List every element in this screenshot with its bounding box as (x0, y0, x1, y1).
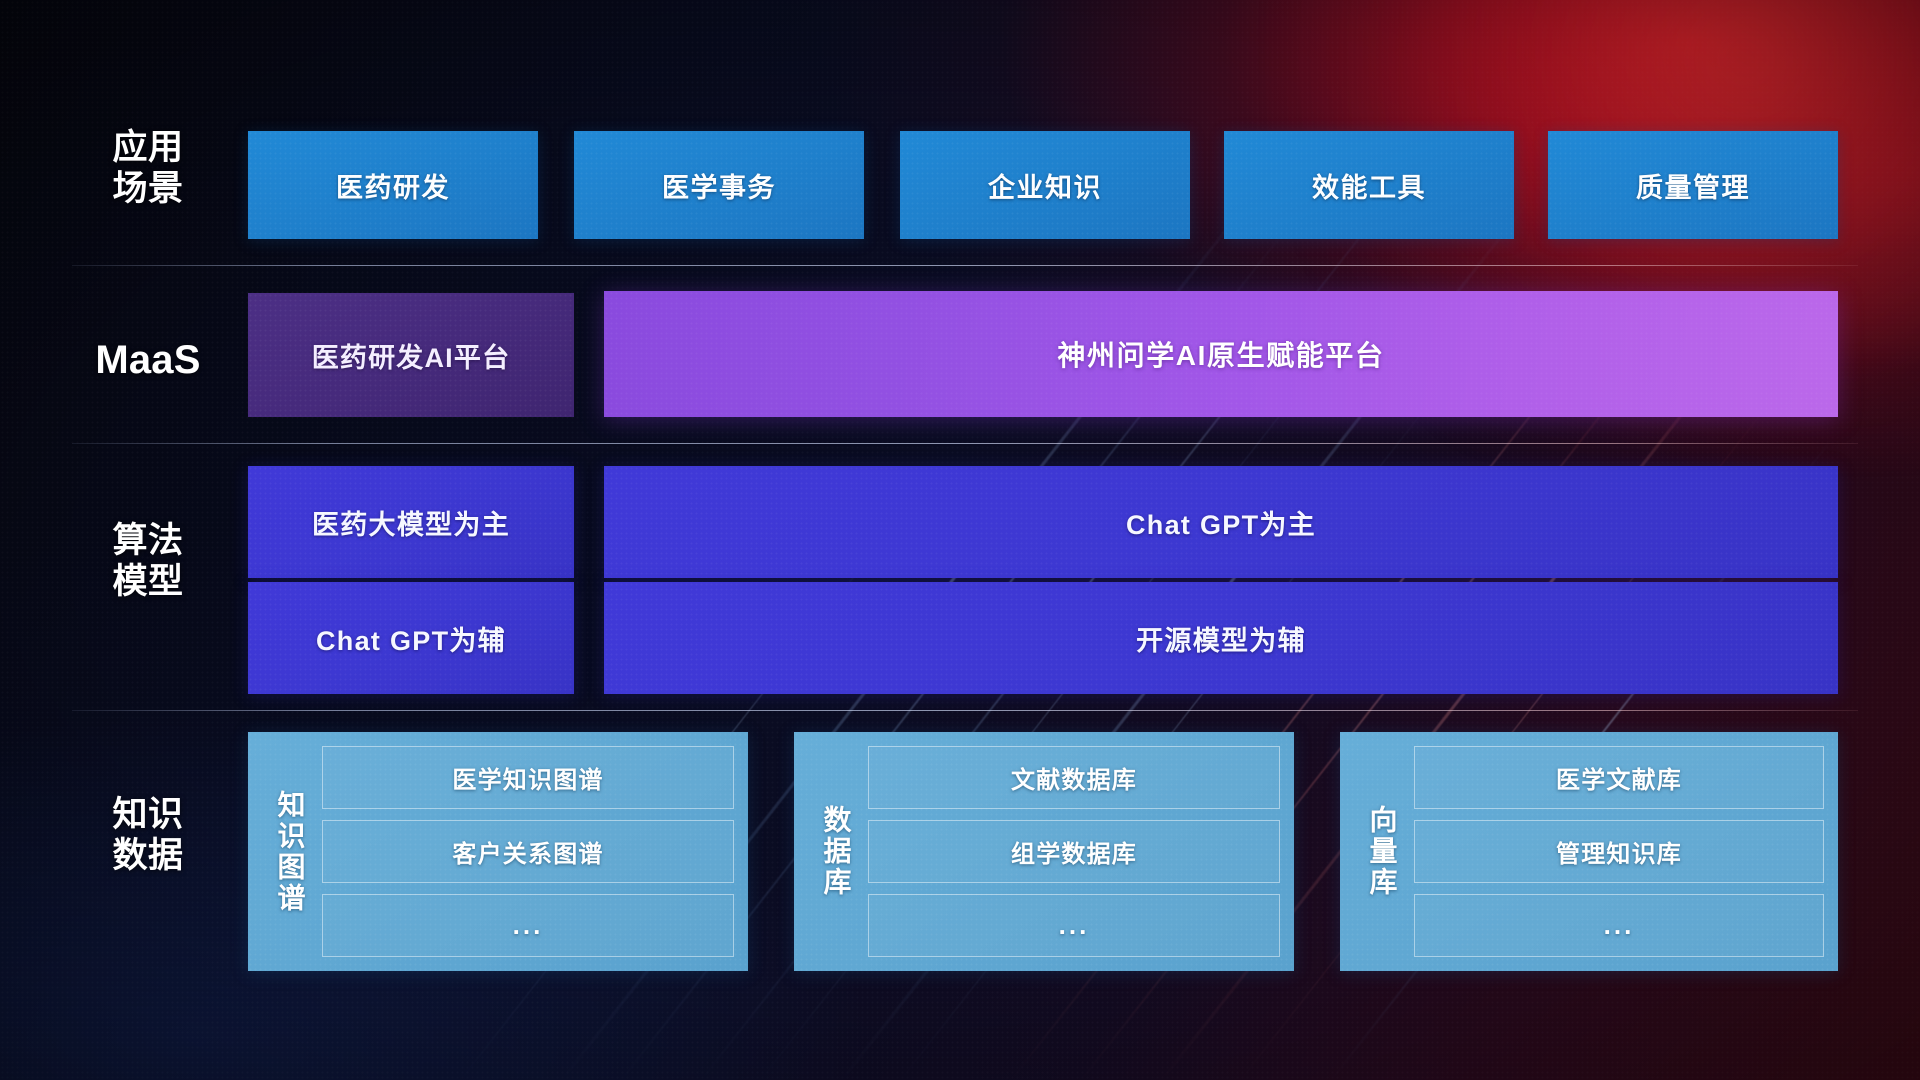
knowledge-chip-label: 医学知识图谱 (452, 760, 603, 795)
vertical-label-text: 数据库 (819, 805, 852, 898)
vertical-label-text: 知识图谱 (273, 790, 306, 914)
algo-box-chatgpt-primary[interactable]: Chat GPT为主 (604, 466, 1838, 578)
tier-label-algorithm: 算法 模型 (68, 521, 228, 602)
knowledge-chip-more[interactable]: ... (1414, 894, 1824, 957)
algo-box-label: 开源模型为辅 (1136, 619, 1306, 658)
knowledge-panel-items: 文献数据库 组学数据库 ... (868, 746, 1280, 957)
app-box-quality-management[interactable]: 质量管理 (1548, 131, 1838, 239)
app-box-drug-rd[interactable]: 医药研发 (248, 131, 538, 239)
knowledge-chip-label: ... (1059, 910, 1090, 941)
algo-box-chatgpt-secondary[interactable]: Chat GPT为辅 (248, 582, 574, 694)
app-box-label: 企业知识 (988, 166, 1102, 205)
maas-box-label: 神州问学AI原生赋能平台 (1057, 334, 1384, 374)
maas-box-drug-rd-ai-platform[interactable]: 医药研发AI平台 (248, 293, 574, 417)
knowledge-panel-vector[interactable]: 向量库 医学文献库 管理知识库 ... (1340, 732, 1838, 971)
knowledge-chip[interactable]: 管理知识库 (1414, 820, 1824, 883)
vertical-label-text: 向量库 (1365, 805, 1398, 898)
algo-box-pharma-llm-primary[interactable]: 医药大模型为主 (248, 466, 574, 578)
architecture-diagram: 应用 场景 医药研发 医学事务 企业知识 效能工具 质量管理 MaaS 医药研发… (0, 0, 1920, 1080)
knowledge-chip-label: 管理知识库 (1556, 834, 1682, 869)
diagram-stage: 应用 场景 医药研发 医学事务 企业知识 效能工具 质量管理 MaaS 医药研发… (0, 0, 1920, 1080)
knowledge-panel-items: 医学文献库 管理知识库 ... (1414, 746, 1824, 957)
knowledge-chip-label: ... (513, 910, 544, 941)
knowledge-chip[interactable]: 组学数据库 (868, 820, 1280, 883)
app-box-medical-affairs[interactable]: 医学事务 (574, 131, 864, 239)
knowledge-chip-label: 组学数据库 (1011, 834, 1137, 869)
divider-algorithm-knowledge (72, 710, 1858, 711)
maas-box-shenzhou-wenxue-platform[interactable]: 神州问学AI原生赋能平台 (604, 291, 1838, 417)
knowledge-chip[interactable]: 文献数据库 (868, 746, 1280, 809)
knowledge-panel-items: 医学知识图谱 客户关系图谱 ... (322, 746, 734, 957)
maas-box-label: 医药研发AI平台 (312, 336, 511, 375)
knowledge-panel-vertical-label: 知识图谱 (258, 746, 322, 957)
tier-label-knowledge: 知识 数据 (68, 795, 228, 876)
knowledge-panel-graph[interactable]: 知识图谱 医学知识图谱 客户关系图谱 ... (248, 732, 748, 971)
tier-label-maas: MaaS (68, 337, 228, 383)
knowledge-chip-label: 客户关系图谱 (452, 834, 603, 869)
knowledge-chip-more[interactable]: ... (868, 894, 1280, 957)
knowledge-chip-label: 文献数据库 (1011, 760, 1137, 795)
app-box-label: 效能工具 (1312, 166, 1426, 205)
knowledge-panel-vertical-label: 向量库 (1350, 746, 1414, 957)
knowledge-chip[interactable]: 医学文献库 (1414, 746, 1824, 809)
algo-box-label: Chat GPT为辅 (316, 619, 506, 658)
knowledge-chip-more[interactable]: ... (322, 894, 734, 957)
knowledge-chip-label: 医学文献库 (1556, 760, 1682, 795)
knowledge-panel-database[interactable]: 数据库 文献数据库 组学数据库 ... (794, 732, 1294, 971)
knowledge-chip-label: ... (1604, 910, 1635, 941)
tier-label-application: 应用 场景 (68, 128, 228, 209)
app-box-enterprise-knowledge[interactable]: 企业知识 (900, 131, 1190, 239)
algo-box-label: Chat GPT为主 (1126, 503, 1316, 542)
app-box-label: 医药研发 (336, 166, 450, 205)
app-box-label: 医学事务 (662, 166, 776, 205)
divider-maas-algorithm (72, 443, 1858, 444)
app-box-efficiency-tools[interactable]: 效能工具 (1224, 131, 1514, 239)
knowledge-chip[interactable]: 客户关系图谱 (322, 820, 734, 883)
app-box-label: 质量管理 (1636, 166, 1750, 205)
divider-application-maas (72, 265, 1858, 266)
algo-box-opensource-secondary[interactable]: 开源模型为辅 (604, 582, 1838, 694)
knowledge-panel-vertical-label: 数据库 (804, 746, 868, 957)
knowledge-chip[interactable]: 医学知识图谱 (322, 746, 734, 809)
algo-box-label: 医药大模型为主 (312, 503, 510, 542)
